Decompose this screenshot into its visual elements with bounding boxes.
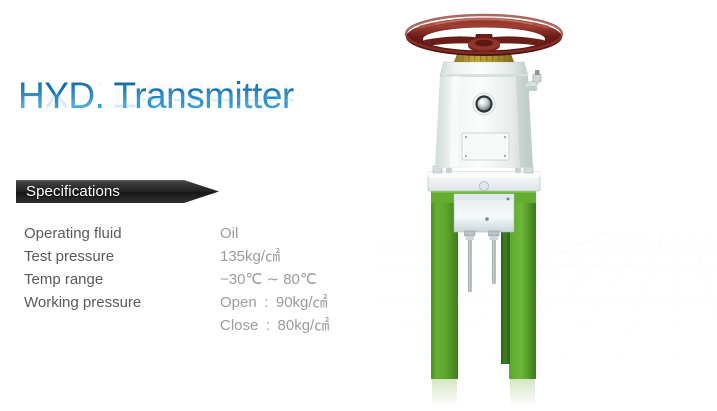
spec-value: Oil: [220, 222, 238, 245]
spec-label: Temp range: [24, 268, 220, 291]
spec-label: Test pressure: [24, 245, 220, 268]
spec-value: −30℃ ∼ 80℃: [220, 268, 317, 291]
nameplate: [462, 133, 509, 160]
table-row: Operating fluid Oil: [24, 222, 384, 245]
actuator-body: [435, 62, 541, 168]
page-title-reflection: HYD. Transmitter: [18, 72, 294, 116]
spec-label: Working pressure: [24, 291, 220, 314]
drive-rods: [465, 231, 500, 292]
spec-label: Operating fluid: [24, 222, 220, 245]
specifications-banner-label: Specifications: [26, 182, 120, 201]
sight-glass-gauge: [473, 93, 495, 115]
spec-value: Close : 80kg/㎠: [220, 314, 329, 337]
mounting-flange: [428, 166, 540, 191]
perspective-floor-grid: [372, 0, 717, 411]
specifications-banner: Specifications: [16, 180, 219, 203]
yoke-legs: [431, 189, 536, 379]
floor-reflection: [432, 378, 535, 406]
side-port-fitting: [524, 70, 541, 92]
spec-value: Open : 90kg/㎠: [220, 291, 328, 314]
product-spec-slide: HYD. Transmitter HYD. Transmitter Specif…: [0, 0, 717, 411]
page-title-block: HYD. Transmitter HYD. Transmitter: [18, 74, 358, 152]
table-row: Working pressure Open : 90kg/㎠: [24, 291, 384, 314]
limit-switch-box: [454, 194, 514, 232]
spec-value: 135kg/㎠: [220, 245, 280, 268]
specifications-table: Operating fluid Oil Test pressure 135kg/…: [24, 222, 384, 337]
table-row: Temp range −30℃ ∼ 80℃: [24, 268, 384, 291]
brass-stem-nut: [454, 46, 514, 62]
handwheel: [406, 15, 562, 56]
table-row: Close : 80kg/㎠: [24, 314, 384, 337]
table-row: Test pressure 135kg/㎠: [24, 245, 384, 268]
product-image: [372, 0, 717, 411]
